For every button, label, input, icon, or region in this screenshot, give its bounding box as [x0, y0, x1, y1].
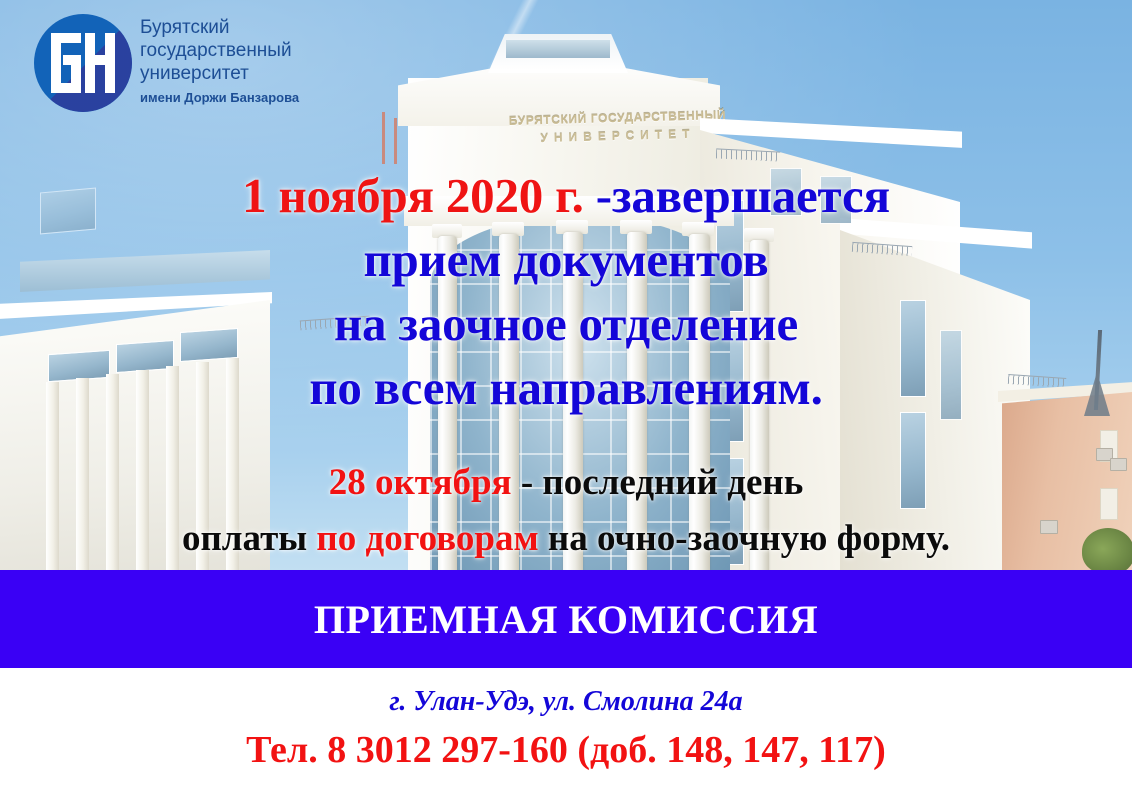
admissions-committee-banner: ПРИЕМНАЯ КОМИССИЯ — [0, 570, 1132, 668]
subline-line-1: 28 октября - последний день — [0, 455, 1132, 511]
subline-line-1-rest: - последний день — [512, 462, 804, 503]
subline-line-2: оплаты по договорам на очно-заочную форм… — [0, 511, 1132, 567]
admissions-committee-label: ПРИЕМНАЯ КОМИССИЯ — [314, 596, 818, 643]
logo-line-3: университет — [140, 62, 352, 85]
logo-line-2: государственный — [140, 39, 352, 62]
logo-line-1: Бурятский — [140, 16, 352, 39]
subline-form-label: на очно-заочную форму. — [539, 518, 950, 559]
headline-line-3: на заочное отделение — [0, 292, 1132, 356]
university-logo: Бурятский государственный университет им… — [22, 8, 352, 120]
subline-payment-label: оплаты — [182, 518, 316, 559]
roof-mast — [394, 118, 397, 164]
logo-wordmark: Бурятский государственный университет им… — [140, 16, 352, 105]
headline-line-2: прием документов — [0, 228, 1132, 292]
headline-line-4: по всем направлениям. — [0, 356, 1132, 420]
headline-date: 1 ноября 2020 г. — [242, 168, 596, 223]
headline-text-block: 1 ноября 2020 г. -завершается прием доку… — [0, 164, 1132, 420]
contact-footer: г. Улан-Удэ, ул. Смолина 24а Тел. 8 3012… — [0, 668, 1132, 800]
penthouse-glazing — [506, 40, 610, 58]
headline-line-1: 1 ноября 2020 г. -завершается — [0, 164, 1132, 228]
headline-verb: -завершается — [596, 168, 890, 223]
subline-date: 28 октября — [329, 462, 512, 503]
logo-monogram-letters — [50, 32, 116, 94]
address-text: г. Улан-Удэ, ул. Смолина 24а — [0, 686, 1132, 718]
roof-mast — [382, 112, 385, 164]
subline-text-block: 28 октября - последний день оплаты по до… — [0, 455, 1132, 567]
bsu-monogram-logo-icon — [34, 14, 132, 112]
subline-contracts-label: по договорам — [316, 518, 538, 559]
admissions-poster: БУРЯТСКИЙ ГОСУДАРСТВЕННЫЙ УНИВЕРСИТЕТ — [0, 0, 1132, 800]
phone-text: Тел. 8 3012 297-160 (доб. 148, 147, 117) — [0, 728, 1132, 772]
logo-line-4: имени Доржи Банзарова — [140, 90, 352, 105]
